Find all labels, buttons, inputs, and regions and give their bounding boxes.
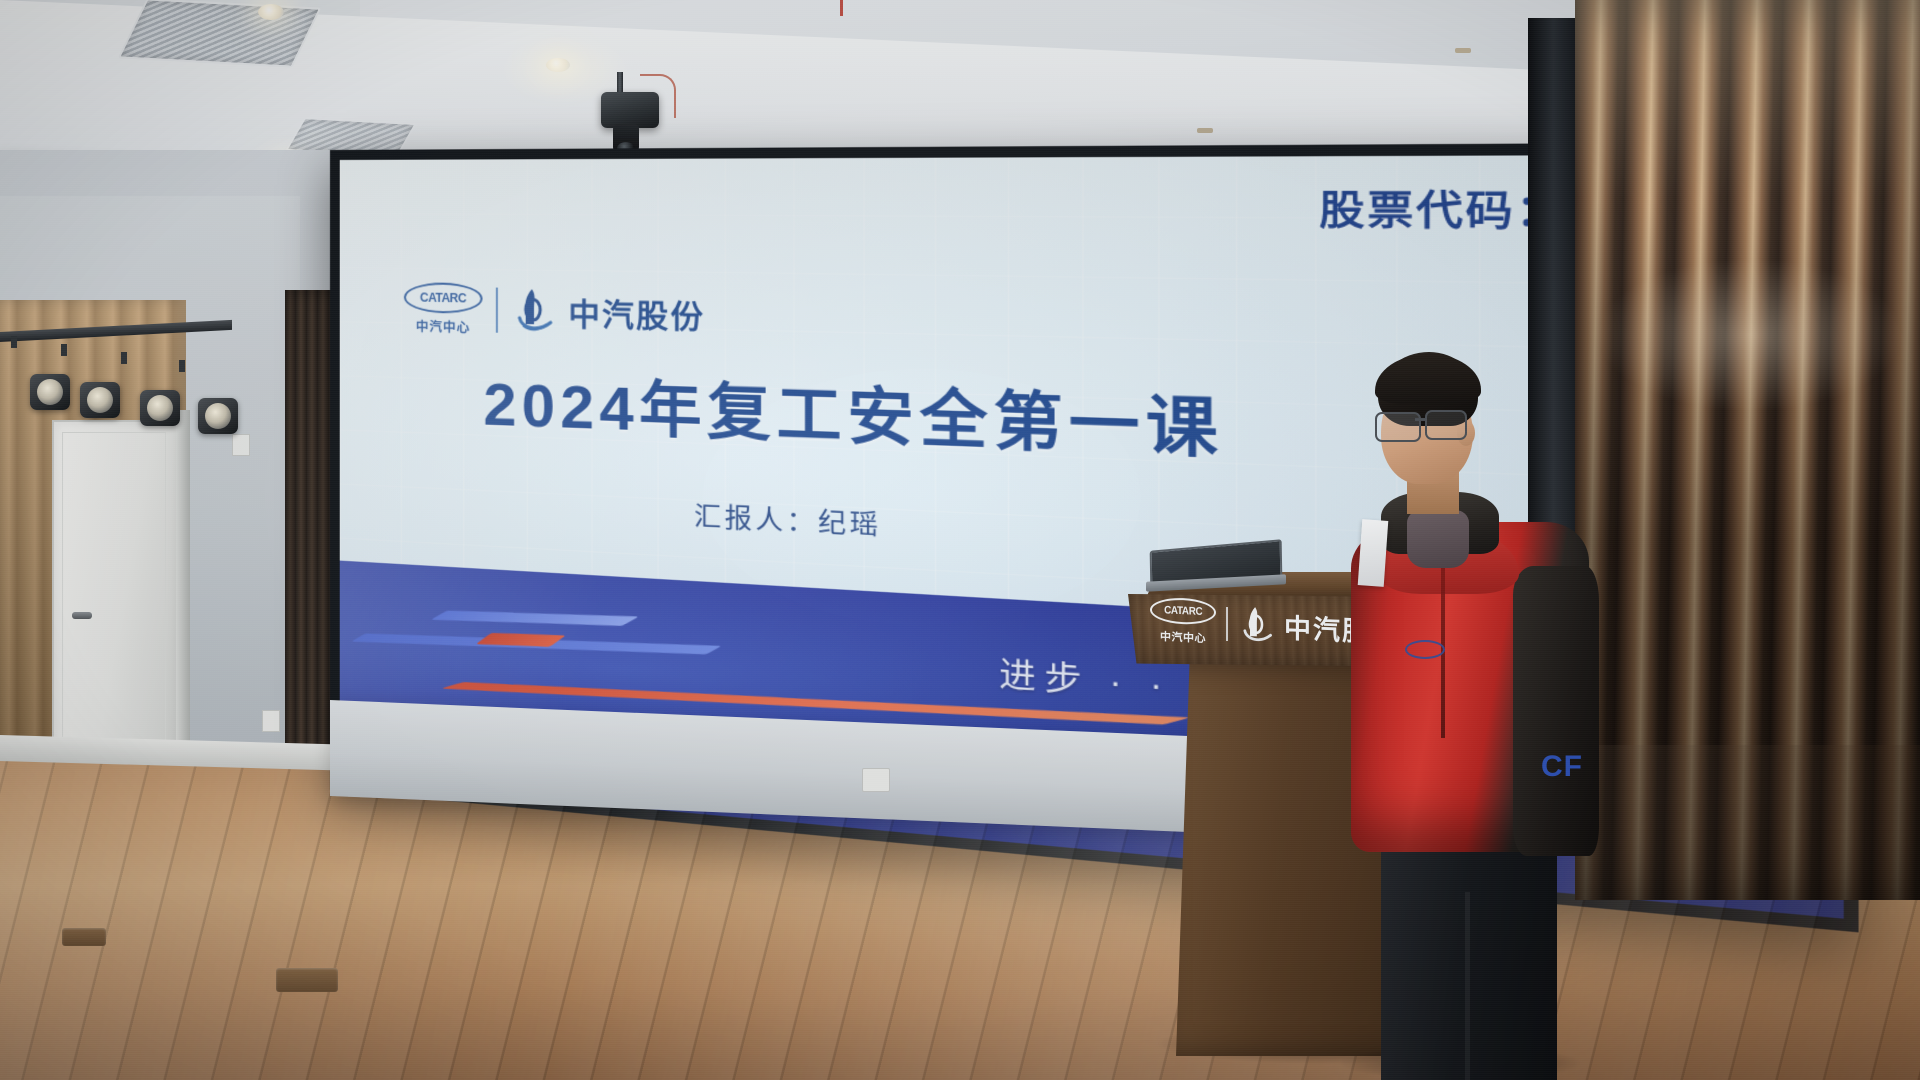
floor-wall-outlet[interactable] [862, 768, 890, 792]
presenter-chest-logo [1405, 640, 1445, 659]
presenter-glasses-left-lens [1375, 412, 1421, 442]
slide-ribbon-red-small [476, 633, 566, 647]
track-spotlight [44, 344, 84, 392]
track-spotlight [0, 336, 34, 384]
podium-logo-divider [1226, 606, 1228, 640]
track-spotlight [162, 360, 202, 408]
podium-company-emblem-icon [1238, 604, 1274, 646]
podium-catarc-logo: CATARC 中汽中心 [1150, 597, 1216, 647]
catarc-oval-mark: CATARC [404, 282, 483, 314]
security-camera-body [601, 92, 659, 128]
presenter-notes-paper [1358, 519, 1389, 587]
catarc-chinese-name: 中汽中心 [416, 316, 470, 336]
podium-catarc-wordmark: CATARC [1164, 604, 1202, 618]
presenter-hair-fringe [1375, 354, 1481, 404]
podium-catarc-chinese: 中汽中心 [1160, 628, 1206, 646]
bronze-wall-highlight [1600, 260, 1900, 410]
ceiling-air-vent [118, 0, 322, 68]
presenter-sweater [1407, 510, 1469, 568]
ceiling-cable [840, 0, 843, 16]
presenter-glasses-right-lens [1425, 410, 1467, 440]
catarc-logo: CATARC 中汽中心 [404, 282, 483, 336]
presenter: CF [1345, 352, 1595, 1080]
floor-service-box[interactable] [276, 968, 338, 992]
slide-brand-logo: CATARC 中汽中心 中汽股份 [404, 282, 705, 341]
door-jamb [176, 410, 190, 762]
logo-divider [496, 287, 498, 332]
company-name-text: 中汽股份 [568, 289, 705, 338]
door-handle[interactable] [72, 612, 92, 619]
catarc-wordmark: CATARC [420, 290, 466, 306]
soffit-fastener [1455, 48, 1471, 53]
conference-room-photo: 股票代码：301215 CATARC 中汽中心 [0, 0, 1920, 1080]
company-emblem-icon [511, 287, 555, 335]
presenter-sleeve-mark: CF [1541, 750, 1583, 784]
door-panel [62, 432, 166, 750]
wall-switch-plate[interactable] [232, 434, 250, 456]
soffit-fastener [1197, 128, 1213, 133]
ceiling-downlight [258, 4, 284, 20]
floor-service-box[interactable] [62, 928, 106, 946]
bronze-wall-sheen [1575, 0, 1920, 900]
presenter-leg-seam [1465, 892, 1470, 1080]
wall-outlet-plate[interactable] [262, 710, 280, 732]
presenter-jacket-sleeve [1513, 566, 1599, 856]
podium-catarc-oval: CATARC [1150, 597, 1216, 626]
track-spotlight [104, 352, 144, 400]
